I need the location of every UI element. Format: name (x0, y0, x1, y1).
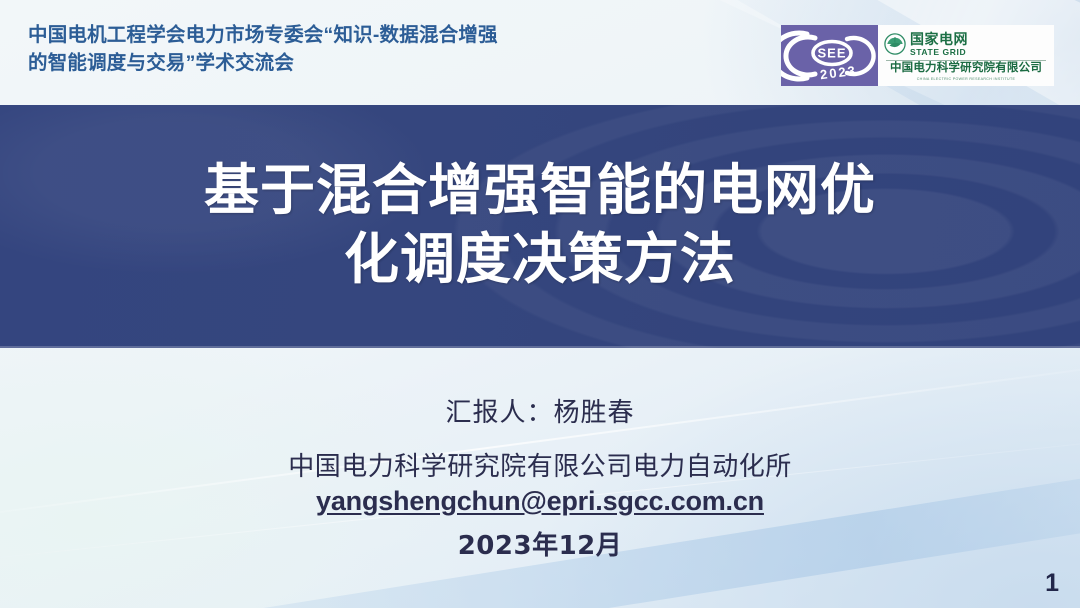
state-grid-name-en: STATE GRID (910, 48, 968, 57)
page-title-line2: 化调度决策方法 (344, 226, 736, 291)
presentation-date: 2023年12月 (0, 525, 1080, 562)
state-grid-wordmark: 国家电网 STATE GRID (910, 32, 968, 56)
page-number: 1 (1045, 569, 1059, 598)
svg-text:SEE: SEE (817, 46, 846, 61)
logo-group: SEE 2023 国家电网 (781, 25, 1054, 86)
state-grid-logo: 国家电网 STATE GRID 中国电力科学研究院有限公司 CHINA ELEC… (878, 25, 1054, 86)
state-grid-emblem-icon (884, 33, 906, 55)
presenter-organization: 中国电力科学研究院有限公司电力自动化所 (0, 451, 1080, 484)
state-grid-divider (886, 60, 1046, 61)
conference-header: 中国电机工程学会电力市场专委会“知识-数据混合增强 的智能调度与交易”学术交流会 (28, 22, 648, 77)
page-title-line1: 基于混合增强智能的电网优 (204, 157, 876, 222)
title-band: 基于混合增强智能的电网优化调度决策方法 (0, 105, 1080, 348)
svg-text:2023: 2023 (819, 63, 857, 82)
presenter-email[interactable]: yangshengchun@epri.sgcc.com.cn (0, 484, 1080, 519)
state-grid-institute-en: CHINA ELECTRIC POWER RESEARCH INSTITUTE (884, 76, 1048, 80)
state-grid-institute-cn: 中国电力科学研究院有限公司 (884, 63, 1048, 75)
conference-header-line2: 的智能调度与交易”学术交流会 (28, 52, 294, 74)
presentation-title-slide: 中国电机工程学会电力市场专委会“知识-数据混合增强 的智能调度与交易”学术交流会… (0, 0, 1080, 608)
see-conference-logo-icon: SEE 2023 (781, 25, 878, 86)
presenter-name: 汇报人：杨胜春 (0, 392, 1080, 429)
conference-header-line1: 中国电机工程学会电力市场专委会“知识-数据混合增强 (28, 24, 498, 46)
page-title: 基于混合增强智能的电网优化调度决策方法 (0, 155, 1080, 294)
state-grid-brand-row: 国家电网 STATE GRID (884, 29, 1048, 59)
state-grid-name-cn: 国家电网 (910, 32, 968, 46)
presenter-block: 汇报人：杨胜春 中国电力科学研究院有限公司电力自动化所 yangshengchu… (0, 392, 1080, 562)
